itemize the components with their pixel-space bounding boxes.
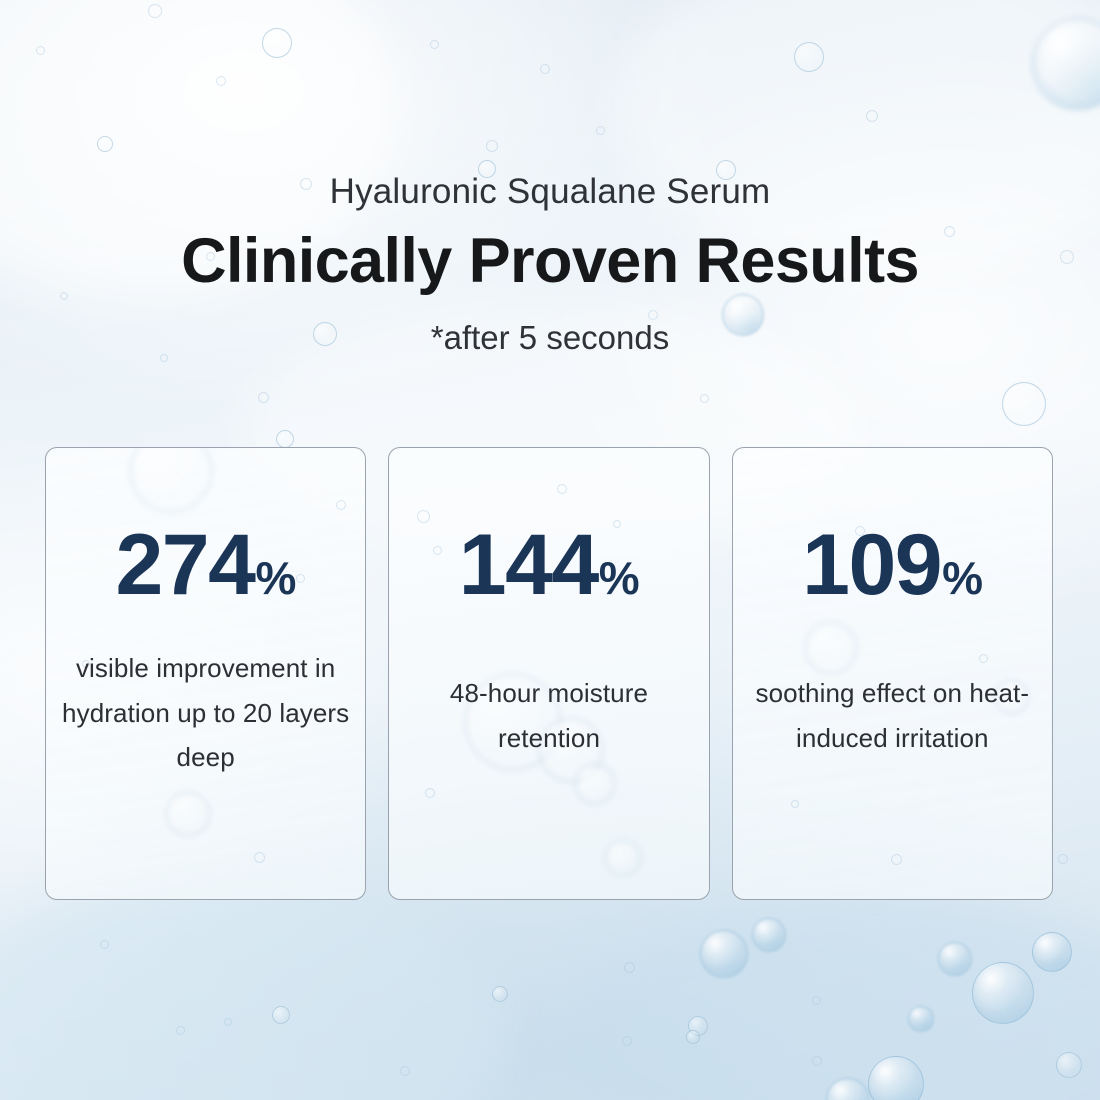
bubble-icon bbox=[596, 126, 605, 135]
bubble-icon bbox=[1058, 854, 1068, 864]
stat-number: 144 bbox=[459, 522, 598, 608]
bubble-icon bbox=[97, 136, 113, 152]
bubble-icon bbox=[688, 1016, 708, 1036]
stat-value: 274% bbox=[115, 522, 295, 608]
bubble-icon bbox=[826, 1078, 870, 1100]
stat-number: 274 bbox=[115, 522, 254, 608]
bubble-icon bbox=[622, 1036, 632, 1046]
stat-value: 144% bbox=[459, 522, 639, 608]
background-wash bbox=[560, 900, 1100, 1100]
bubble-icon bbox=[868, 1056, 924, 1100]
stat-card-list: 274% visible improvement in hydration up… bbox=[45, 447, 1053, 900]
bubble-icon bbox=[866, 110, 878, 122]
bubble-icon bbox=[624, 962, 635, 973]
bubble-icon bbox=[686, 1030, 700, 1044]
bubble-icon bbox=[276, 430, 294, 448]
bubble-icon bbox=[272, 1006, 290, 1024]
bubble-icon bbox=[216, 76, 226, 86]
bubble-icon bbox=[700, 394, 709, 403]
bubble-icon bbox=[752, 918, 786, 952]
bubble-icon bbox=[36, 46, 45, 55]
bubble-icon bbox=[100, 940, 109, 949]
bubble-icon bbox=[176, 1026, 185, 1035]
percent-sign: % bbox=[255, 555, 295, 601]
percent-sign: % bbox=[599, 555, 639, 601]
stat-card: 109% soothing effect on heat-induced irr… bbox=[732, 447, 1053, 900]
bubble-icon bbox=[812, 1056, 822, 1066]
bubble-icon bbox=[262, 28, 292, 58]
bubble-icon bbox=[224, 1018, 232, 1026]
bubble-icon bbox=[700, 930, 748, 978]
stat-card: 144% 48-hour moisture retention bbox=[388, 447, 709, 900]
bubble-icon bbox=[972, 962, 1034, 1024]
bubble-icon bbox=[908, 1006, 934, 1032]
bubble-icon bbox=[812, 996, 821, 1005]
stat-number: 109 bbox=[802, 522, 941, 608]
stat-value: 109% bbox=[802, 522, 982, 608]
bubble-icon bbox=[492, 986, 508, 1002]
background-wash bbox=[0, 880, 500, 1100]
bubble-icon bbox=[938, 942, 972, 976]
bubble-icon bbox=[430, 40, 439, 49]
bubble-icon bbox=[258, 392, 269, 403]
bubble-icon bbox=[486, 140, 498, 152]
product-name: Hyaluronic Squalane Serum bbox=[0, 174, 1100, 209]
percent-sign: % bbox=[942, 555, 982, 601]
bubble-icon bbox=[1056, 1052, 1082, 1078]
bubble-icon bbox=[1032, 18, 1100, 110]
bubble-icon bbox=[400, 1066, 410, 1076]
stat-card: 274% visible improvement in hydration up… bbox=[45, 447, 366, 900]
stat-description: visible improvement in hydration up to 2… bbox=[46, 646, 365, 780]
bubble-icon bbox=[540, 64, 550, 74]
bubble-icon bbox=[794, 42, 824, 72]
bubble-icon bbox=[1002, 382, 1046, 426]
page-title: Clinically Proven Results bbox=[0, 226, 1100, 297]
bubble-icon bbox=[1032, 932, 1072, 972]
stat-description: 48-hour moisture retention bbox=[389, 671, 708, 760]
bubble-icon bbox=[148, 4, 162, 18]
timing-footnote: *after 5 seconds bbox=[0, 318, 1100, 358]
promo-graphic: Hyaluronic Squalane Serum Clinically Pro… bbox=[0, 0, 1100, 1100]
stat-description: soothing effect on heat-induced irritati… bbox=[733, 671, 1052, 760]
